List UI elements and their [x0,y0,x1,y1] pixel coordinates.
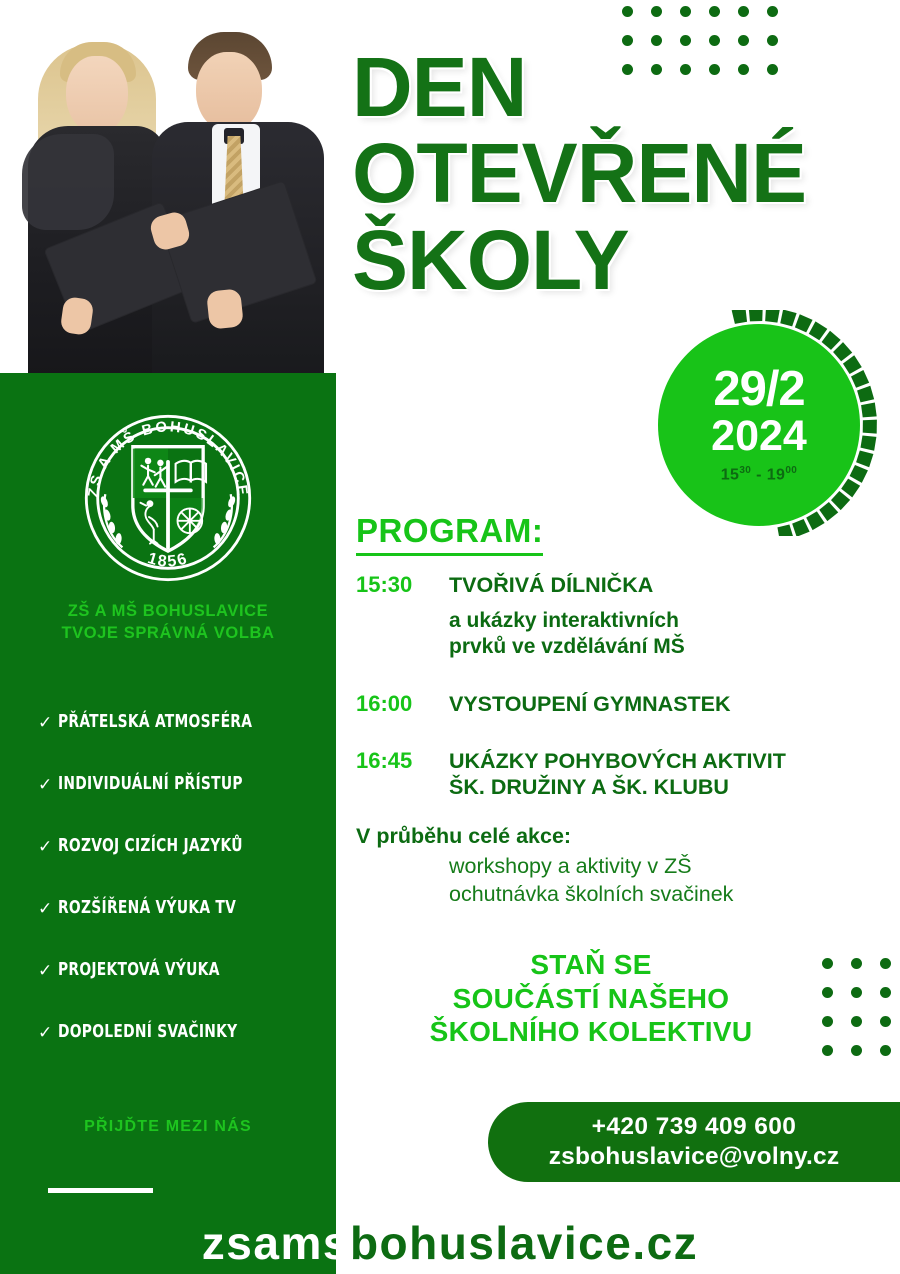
program-subtext-line2: prvků ve vzdělávání MŠ [449,634,876,660]
decor-dot [880,958,891,969]
feature-label: ROZŠÍŘENÁ VÝUKA TV [58,898,236,918]
sunburst-ray [851,370,869,388]
date-badge-day: 29/2 [713,365,804,414]
sidebar-panel: ZŠ A MŠ BOHUSLAVICE 1856 [0,373,336,1274]
photo-children [0,0,340,376]
sunburst-ray [833,342,852,361]
girl-dress-ruffle [22,134,114,230]
check-icon: ✓ [38,838,58,855]
feature-label: ROZVOJ CIZÍCH JAZYKŮ [58,836,243,856]
program-duration-block: V průběhu celé akce: workshopy a aktivit… [356,824,876,909]
sunburst-ray [860,436,876,451]
program-row: 15:30 TVOŘIVÁ DÍLNIČKA [356,572,876,599]
program-duration-line1: workshopy a aktivity v ZŠ [449,853,876,881]
feature-item: ✓ PŘÁTELSKÁ ATMOSFÉRA [0,691,336,753]
sidebar-heading-line2: TVOJE SPRÁVNÁ VOLBA [0,623,336,645]
feature-list: ✓ PŘÁTELSKÁ ATMOSFÉRA ✓ INDIVIDUÁLNÍ PŘÍ… [0,691,336,1063]
program-subtext-line1: a ukázky interaktivních [449,608,876,634]
decor-dot [622,6,633,17]
check-icon: ✓ [38,776,58,793]
check-icon: ✓ [38,1024,58,1041]
check-icon: ✓ [38,714,58,731]
decor-dot [880,987,891,998]
sunburst-ray [749,310,763,321]
feature-item: ✓ PROJEKTOVÁ VÝUKA [0,939,336,1001]
program-time: 15:30 [356,572,449,599]
girl-face [66,56,128,134]
boy-face [196,52,262,132]
program-duration-line2: ochutnávka školních svačinek [449,881,876,909]
sunburst-ray [809,321,828,340]
program-duration-lead: V průběhu celé akce: [356,824,876,849]
time-to-min: 00 [785,465,797,476]
feature-item: ✓ INDIVIDUÁLNÍ PŘÍSTUP [0,753,336,815]
sunburst-ray [795,314,813,332]
sunburst-ray [857,386,874,403]
decor-dot [851,958,862,969]
contact-email[interactable]: zsbohuslavice@volny.cz [549,1143,840,1171]
feature-item: ✓ ROZŠÍŘENÁ VÝUKA TV [0,877,336,939]
sunburst-ray [863,420,877,434]
sunburst-ray [843,355,862,374]
come-join-text: PŘIJĎTE MEZI NÁS [0,1118,336,1136]
decor-dot [738,6,749,17]
program-row: 16:45 UKÁZKY POHYBOVÝCH AKTIVIT ŠK. DRUŽ… [356,748,876,800]
decor-dot [622,35,633,46]
sunburst-ray [861,402,877,417]
feature-item: ✓ DOPOLEDNÍ SVAČINKY [0,1001,336,1063]
program-text: TVOŘIVÁ DÍLNIČKA [449,572,653,598]
check-icon: ✓ [38,900,58,917]
sidebar-heading: ZŠ A MŠ BOHUSLAVICE TVOJE SPRÁVNÁ VOLBA [0,601,336,645]
program-time: 16:00 [356,691,449,718]
footer-url-part-2: bohuslavice.cz [350,1216,698,1270]
contact-pill[interactable]: +420 739 409 600 zsbohuslavice@volny.cz [488,1102,900,1182]
time-from-hour: 15 [721,467,740,484]
feature-label: INDIVIDUÁLNÍ PŘÍSTUP [58,774,243,794]
decor-dot [738,35,749,46]
time-to-hour: 19 [767,467,786,484]
sunburst-ray [831,491,850,510]
headline-line2: OTEVŘENÉ [352,132,900,214]
hand-boy-lower [206,288,244,329]
contact-phone[interactable]: +420 739 409 600 [592,1113,797,1141]
school-crest-icon: ZŠ A MŠ BOHUSLAVICE 1856 [73,403,263,593]
program-time: 16:45 [356,748,449,775]
cta-text: STAŇ SE SOUČÁSTÍ NAŠEHO ŠKOLNÍHO KOLEKTI… [356,948,826,1049]
date-badge-time: 1530 - 1900 [721,465,798,484]
program-section: PROGRAM: 15:30 TVOŘIVÁ DÍLNIČKA a ukázky… [356,512,876,909]
decor-dot [709,6,720,17]
headline-line1: DEN [352,46,900,128]
sunburst-ray [856,451,873,468]
time-from-min: 30 [739,465,751,476]
sunburst-ray [841,479,860,498]
check-icon: ✓ [38,962,58,979]
sunburst-ray [765,310,780,323]
program-text-line2: ŠK. DRUŽINY A ŠK. KLUBU [449,774,786,800]
cta-line3: ŠKOLNÍHO KOLEKTIVU [356,1015,826,1049]
program-text: UKÁZKY POHYBOVÝCH AKTIVIT [449,748,786,774]
decor-dot [680,6,691,17]
dot-grid-bottom-right [822,958,900,1068]
decor-dot [651,6,662,17]
program-title: PROGRAM: [356,512,543,556]
feature-label: PROJEKTOVÁ VÝUKA [58,960,220,980]
decor-dot [709,35,720,46]
date-badge: 29/2 2024 1530 - 1900 [648,310,878,536]
program-subtext: a ukázky interaktivních prvků ve vzděláv… [449,608,876,661]
decor-dot [651,35,662,46]
footer-website-url[interactable]: zsamsbohuslavice.cz [0,1212,900,1274]
program-text: VYSTOUPENÍ GYMNASTEK [449,691,731,717]
cta-line1: STAŇ SE [356,948,826,982]
decor-dot [851,987,862,998]
page-title: DEN OTEVŘENÉ ŠKOLY [352,46,900,301]
decor-dot [851,1016,862,1027]
decor-dot [851,1045,862,1056]
school-logo: ZŠ A MŠ BOHUSLAVICE 1856 [58,403,278,593]
date-badge-circle: 29/2 2024 1530 - 1900 [658,324,860,526]
time-separator: - [756,467,762,484]
footer-url-part-1: zsams [202,1216,350,1270]
decor-dot [767,35,778,46]
sunburst-ray [732,310,747,324]
decor-dot [880,1045,891,1056]
date-badge-year: 2024 [711,414,807,459]
feature-label: DOPOLEDNÍ SVAČINKY [58,1022,237,1042]
sidebar-heading-line1: ZŠ A MŠ BOHUSLAVICE [0,601,336,623]
hero-photo [0,0,340,376]
divider-rule [48,1188,153,1193]
feature-label: PŘÁTELSKÁ ATMOSFÉRA [58,712,252,732]
decor-dot [880,1016,891,1027]
sunburst-ray [822,331,841,350]
cta-line2: SOUČÁSTÍ NAŠEHO [356,982,826,1016]
decor-dot [767,6,778,17]
feature-item: ✓ ROZVOJ CIZÍCH JAZYKŮ [0,815,336,877]
program-text-block: UKÁZKY POHYBOVÝCH AKTIVIT ŠK. DRUŽINY A … [449,748,786,800]
sunburst-ray [850,465,868,483]
decor-dot [680,35,691,46]
program-row: 16:00 VYSTOUPENÍ GYMNASTEK [356,691,876,718]
sunburst-ray [780,310,796,326]
headline-line3: ŠKOLY [352,219,900,301]
